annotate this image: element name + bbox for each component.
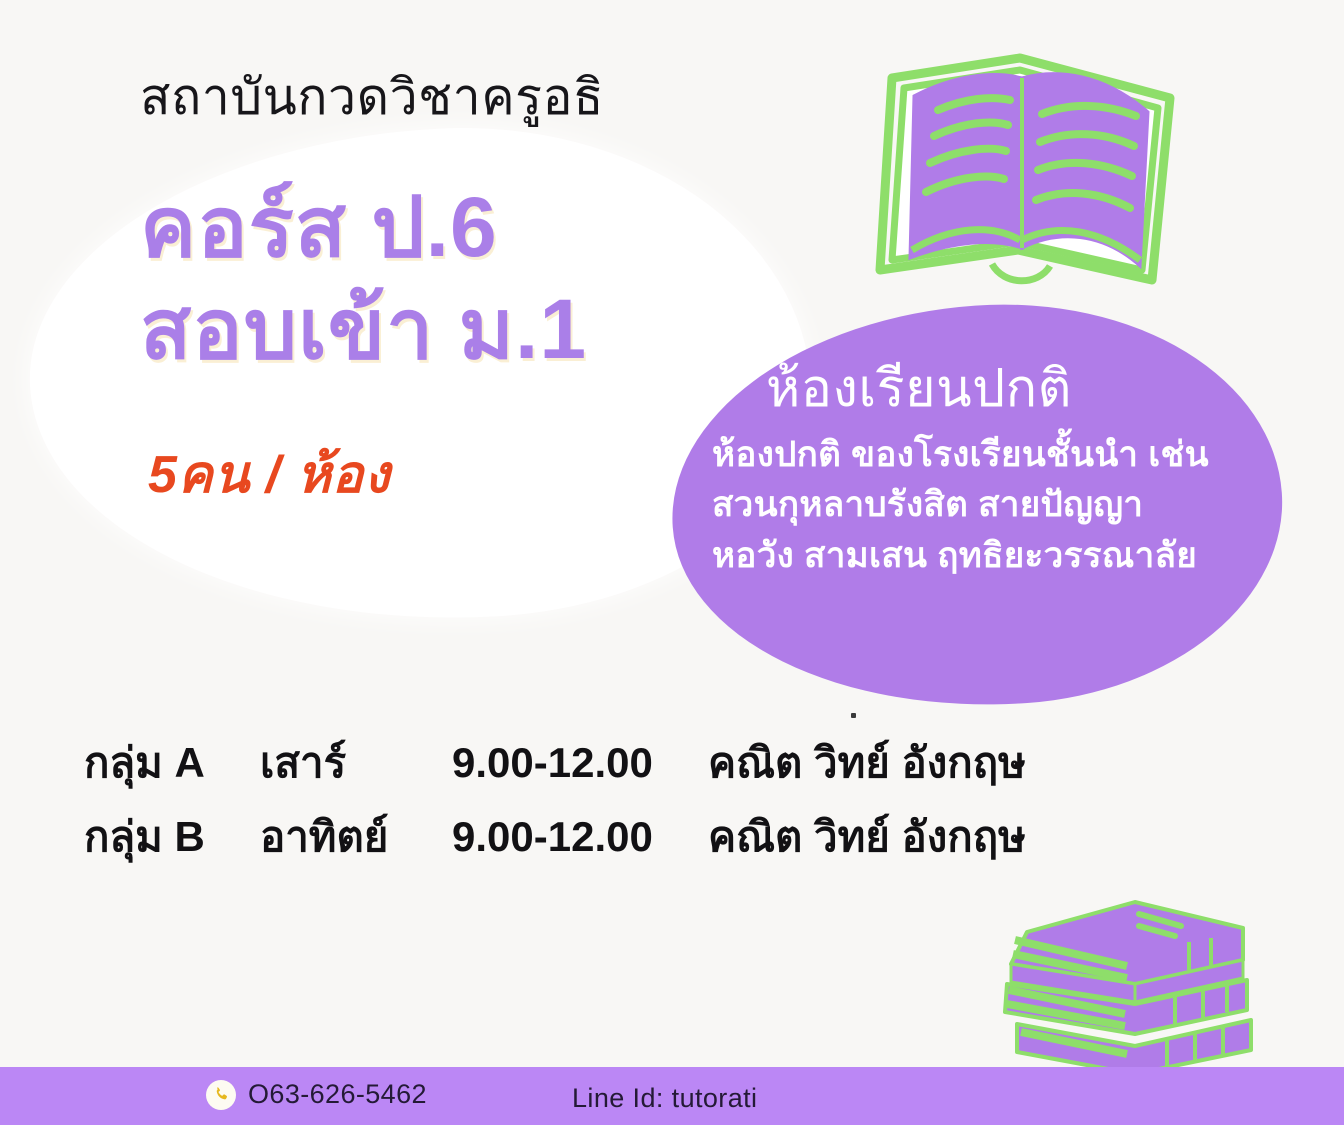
table-row: กลุ่ม A เสาร์ 9.00-12.00 คณิต วิทย์ อังก…: [84, 742, 1026, 784]
row-time: 9.00-12.00: [452, 816, 708, 858]
capacity-note: 5คน / ห้อง: [148, 432, 391, 515]
row-subjects: คณิต วิทย์ อังกฤษ: [708, 742, 1026, 784]
highlight-line-1: ห้องปกติ ของโรงเรียนชั้นนำ เช่น: [712, 430, 1292, 480]
contact-phone[interactable]: O63-626-5462: [206, 1079, 427, 1110]
highlight-heading: ห้องเรียนปกติ: [766, 346, 1072, 429]
page-title: คอร์ส ป.6 สอบเข้า ม.1: [140, 176, 587, 381]
book-stack-icon: [975, 898, 1305, 1090]
highlight-line-2: สวนกุหลาบรังสิต สายปัญญา: [712, 480, 1292, 530]
line-id[interactable]: Line Id: tutorati: [572, 1083, 757, 1114]
highlight-body: ห้องปกติ ของโรงเรียนชั้นนำ เช่น สวนกุหลา…: [712, 430, 1292, 581]
row-time: 9.00-12.00: [452, 742, 708, 784]
phone-number: O63-626-5462: [248, 1079, 427, 1110]
schedule-table: กลุ่ม A เสาร์ 9.00-12.00 คณิต วิทย์ อังก…: [84, 742, 1026, 890]
row-group: กลุ่ม B: [84, 816, 260, 858]
title-line-2: สอบเข้า ม.1: [140, 278, 587, 380]
phone-icon: [206, 1080, 236, 1110]
row-group: กลุ่ม A: [84, 742, 260, 784]
row-day: เสาร์: [260, 742, 452, 784]
open-book-icon: [852, 18, 1202, 318]
row-day: อาทิตย์: [260, 816, 452, 858]
poster-canvas: สถาบันกวดวิชาครูอธิ คอร์ส ป.6 สอบเข้า ม.…: [0, 0, 1344, 1125]
table-row: กลุ่ม B อาทิตย์ 9.00-12.00 คณิต วิทย์ อั…: [84, 816, 1026, 858]
institute-name: สถาบันกวดวิชาครูอธิ: [140, 58, 604, 137]
highlight-line-3: หอวัง สามเสน ฤทธิยะวรรณาลัย: [712, 531, 1292, 581]
row-subjects: คณิต วิทย์ อังกฤษ: [708, 816, 1026, 858]
stray-dot-artifact: [851, 713, 856, 718]
title-line-1: คอร์ส ป.6: [140, 180, 498, 274]
